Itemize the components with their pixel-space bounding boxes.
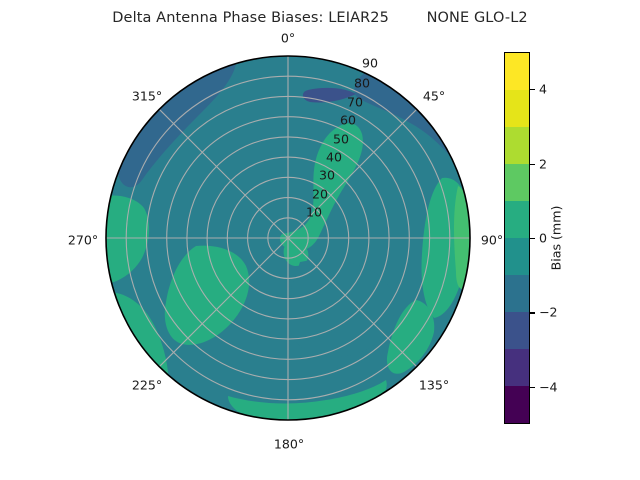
colorbar-axis-label: Bias (mm) bbox=[549, 206, 564, 271]
r-tick-60: 60 bbox=[340, 113, 356, 128]
r-tick-80: 80 bbox=[354, 76, 370, 91]
theta-tick-315: 315° bbox=[132, 89, 162, 104]
colorbar-segment-7 bbox=[505, 127, 529, 164]
colorbar-tick-label-minus4: −4 bbox=[539, 379, 558, 394]
colorbar-tick-label-0: 0 bbox=[539, 231, 547, 246]
theta-tick-0: 0° bbox=[281, 31, 295, 46]
colorbar-gradient bbox=[504, 52, 530, 424]
colorbar-tick-label-4: 4 bbox=[539, 82, 547, 97]
colorbar: 4 2 0 −2 −4 bbox=[504, 52, 530, 424]
r-tick-10: 10 bbox=[306, 205, 322, 220]
theta-tick-270: 270° bbox=[68, 233, 98, 248]
colorbar-segment-6 bbox=[505, 164, 529, 201]
r-tick-30: 30 bbox=[319, 168, 335, 183]
contour-region-bright-green-rim-east bbox=[454, 186, 475, 289]
theta-tick-90: 90° bbox=[481, 233, 503, 248]
colorbar-segment-2 bbox=[505, 312, 529, 349]
r-tick-20: 20 bbox=[312, 187, 328, 202]
matplotlib-figure: Delta Antenna Phase Biases: LEIAR25 NONE… bbox=[0, 0, 640, 480]
colorbar-segment-9 bbox=[505, 53, 529, 90]
r-tick-40: 40 bbox=[326, 150, 342, 165]
theta-tick-135: 135° bbox=[419, 378, 449, 393]
r-tick-50: 50 bbox=[333, 132, 349, 147]
colorbar-segment-3 bbox=[505, 275, 529, 312]
polar-grid-group bbox=[106, 56, 470, 420]
theta-tick-180: 180° bbox=[274, 437, 304, 452]
colorbar-segment-0 bbox=[505, 386, 529, 423]
theta-tick-225: 225° bbox=[132, 378, 162, 393]
r-tick-70: 70 bbox=[347, 95, 363, 110]
r-tick-90: 90 bbox=[362, 56, 378, 71]
colorbar-tick-mark-minus2 bbox=[530, 312, 535, 313]
colorbar-tick-label-minus2: −2 bbox=[539, 305, 558, 320]
colorbar-segment-1 bbox=[505, 349, 529, 386]
colorbar-tick-mark-0 bbox=[530, 238, 535, 239]
colorbar-segment-4 bbox=[505, 238, 529, 275]
colorbar-tick-label-2: 2 bbox=[539, 156, 547, 171]
colorbar-tick-mark-minus4 bbox=[530, 387, 535, 388]
colorbar-segment-5 bbox=[505, 201, 529, 238]
colorbar-tick-mark-4 bbox=[530, 89, 535, 90]
colorbar-tick-mark-2 bbox=[530, 164, 535, 165]
theta-tick-45: 45° bbox=[423, 89, 445, 104]
colorbar-segment-8 bbox=[505, 90, 529, 127]
